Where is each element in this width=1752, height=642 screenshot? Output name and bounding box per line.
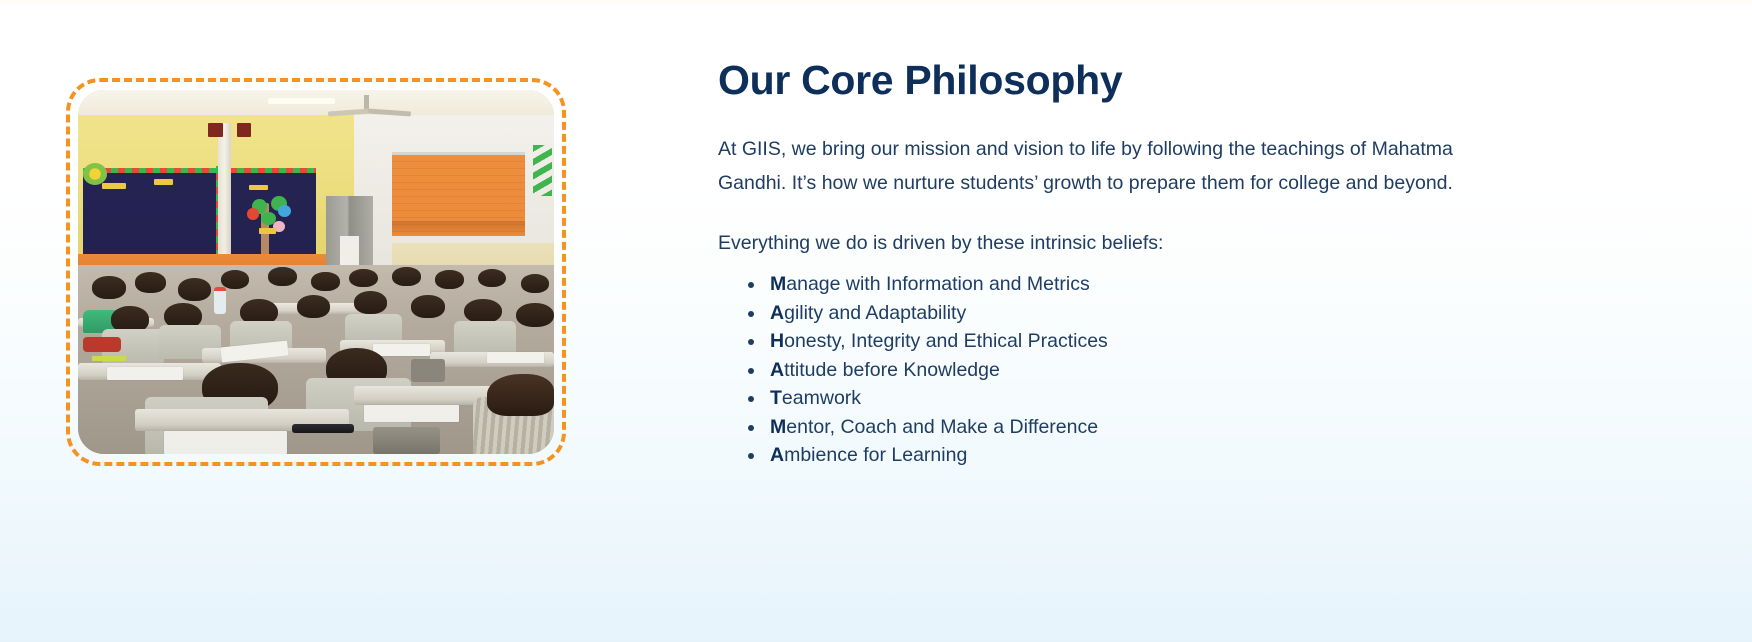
chair-foreground [373, 427, 440, 453]
worksheet [487, 352, 544, 363]
student-head [354, 291, 387, 314]
wall-sign-right [237, 123, 251, 136]
student-head [464, 299, 502, 324]
belief-initial: T [770, 387, 782, 409]
student-head-foreground-right [487, 374, 554, 416]
board-label [249, 185, 268, 191]
student-head [311, 272, 340, 291]
student-head [92, 276, 125, 299]
student-head [411, 295, 444, 318]
belief-initial: H [770, 330, 784, 352]
wall-sign-left [208, 123, 222, 136]
student-head [516, 303, 554, 328]
belief-text: anage with Information and Metrics [786, 273, 1090, 295]
belief-initial: A [770, 302, 784, 324]
belief-initial: A [770, 359, 784, 381]
window-blind-shadow [392, 221, 525, 236]
belief-text: mbience for Learning [784, 444, 967, 466]
belief-text: gility and Adaptability [784, 302, 966, 324]
intro-paragraph: Everything we do is driven by these intr… [718, 226, 1518, 260]
core-philosophy-section: Our Core Philosophy At GIIS, we bring ou… [0, 0, 1752, 642]
notebook [92, 356, 125, 362]
list-item: Honesty, Integrity and Ethical Practices [748, 327, 1572, 356]
worksheet [373, 344, 430, 355]
student-head [478, 269, 507, 288]
water-bottle [214, 287, 226, 313]
belief-initial: M [770, 273, 786, 295]
worksheet [364, 405, 459, 422]
classroom-photo [78, 90, 554, 454]
media-column [0, 0, 700, 466]
school-bag [83, 337, 121, 352]
student-uniform [454, 321, 516, 355]
student-head [349, 269, 378, 288]
chair [411, 359, 444, 382]
students-area [78, 265, 554, 454]
student-head [435, 270, 464, 289]
text-column: Our Core Philosophy At GIIS, we bring ou… [700, 0, 1752, 470]
worksheet [107, 367, 183, 380]
list-item: Manage with Information and Metrics [748, 270, 1572, 299]
student-head [135, 272, 166, 293]
student-head [178, 278, 211, 301]
student-head [221, 270, 250, 289]
board-label [259, 228, 276, 234]
board-border-strip-top [83, 168, 316, 174]
list-item: Teamwork [748, 384, 1572, 413]
belief-initial: M [770, 416, 786, 438]
lead-paragraph: At GIIS, we bring our mission and vision… [718, 132, 1518, 200]
student-head [268, 267, 297, 286]
list-item: Ambience for Learning [748, 441, 1572, 470]
list-item: Agility and Adaptability [748, 299, 1572, 328]
beliefs-list: Manage with Information and Metrics Agil… [718, 270, 1572, 470]
page-title: Our Core Philosophy [718, 56, 1572, 104]
belief-text: onesty, Integrity and Ethical Practices [784, 330, 1108, 352]
classroom-pillar [218, 123, 230, 269]
board-label [102, 183, 126, 190]
belief-text: eamwork [782, 387, 861, 409]
wall-decor-green [533, 145, 552, 196]
list-item: Attitude before Knowledge [748, 356, 1572, 385]
decor-sunflower [83, 163, 107, 185]
belief-initial: A [770, 444, 784, 466]
student-head [521, 274, 550, 293]
board-label [154, 179, 173, 185]
belief-text: entor, Coach and Make a Difference [786, 416, 1098, 438]
pencil-case [292, 424, 354, 433]
student-head [297, 295, 330, 318]
ceiling-light-icon [268, 98, 335, 104]
student-head [392, 267, 421, 286]
photo-dashed-frame [66, 78, 566, 466]
list-item: Mentor, Coach and Make a Difference [748, 413, 1572, 442]
belief-text: ttitude before Knowledge [784, 359, 1000, 381]
worksheet [164, 431, 288, 454]
